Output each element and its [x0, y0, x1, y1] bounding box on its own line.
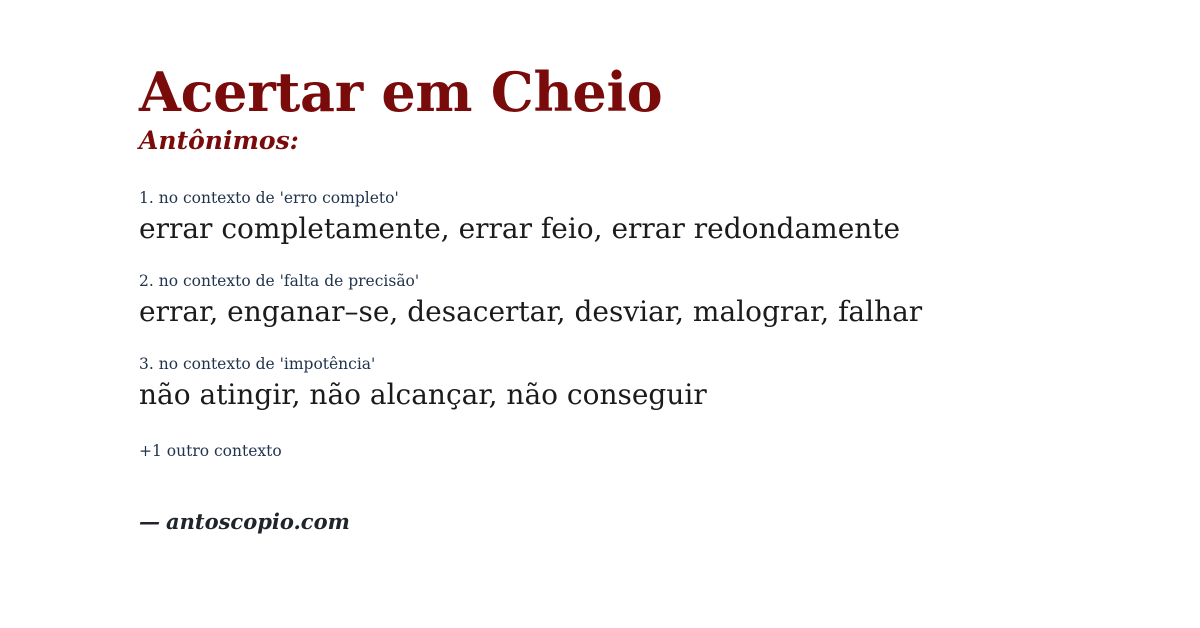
- source-label: antoscopio.com: [166, 509, 350, 534]
- entry-context-label: 1. no contexto de 'erro completo': [139, 189, 1140, 208]
- list-item: 3. no contexto de 'impotência' não ating…: [139, 355, 1140, 412]
- entry-terms: errar completamente, errar feio, errar r…: [139, 208, 1140, 246]
- em-dash-glyph: —: [139, 509, 166, 534]
- antonyms-card: Acertar em Cheio Antônimos: 1. no contex…: [0, 0, 1200, 628]
- list-item: 2. no contexto de 'falta de precisão' er…: [139, 272, 1140, 329]
- entry-terms: não atingir, não alcançar, não conseguir: [139, 374, 1140, 412]
- entry-terms: errar, enganar–se, desacertar, desviar, …: [139, 291, 1140, 329]
- more-contexts-note: +1 outro contexto: [139, 438, 1140, 461]
- page-title: Acertar em Cheio: [139, 0, 1140, 121]
- antonym-entry-list: 1. no contexto de 'erro completo' errar …: [139, 156, 1140, 412]
- source-attribution: —antoscopio.com: [139, 461, 1140, 534]
- list-item: 1. no contexto de 'erro completo' errar …: [139, 189, 1140, 246]
- entry-context-label: 2. no contexto de 'falta de precisão': [139, 272, 1140, 291]
- entry-context-label: 3. no contexto de 'impotência': [139, 355, 1140, 374]
- section-subtitle: Antônimos:: [139, 121, 1140, 156]
